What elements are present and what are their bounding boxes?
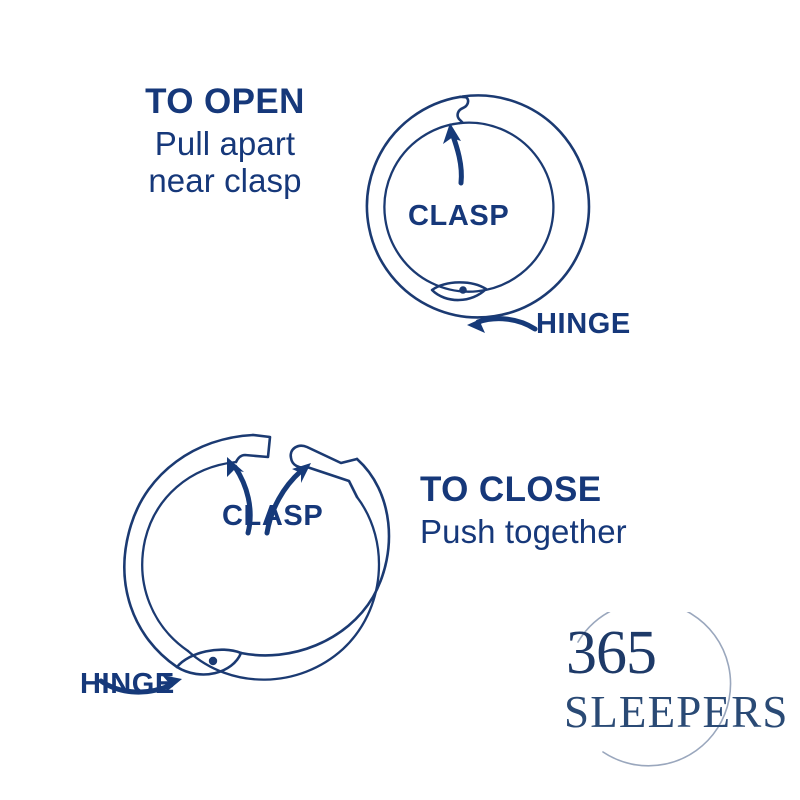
open-ring-left-clasp-tip: [236, 435, 270, 462]
to-close-instructions: TO CLOSE Push together: [420, 470, 750, 551]
hinge-label-open: HINGE: [80, 668, 175, 701]
to-close-line-1: Push together: [420, 514, 750, 551]
instruction-graphic: TO OPEN Pull apart near clasp CLASP: [0, 0, 800, 800]
hinge-pointer-arrow-closed: [478, 319, 535, 329]
closed-ring-clasp-step: [458, 97, 469, 123]
closed-ring-hinge-pivot-dot: [459, 286, 467, 294]
open-ring-left-inner-arc: [142, 462, 236, 651]
clasp-label-open: CLASP: [222, 500, 323, 533]
open-ring-right-outer-arc: [241, 459, 389, 655]
logo-365-mark: 365: [566, 622, 656, 684]
to-close-heading: TO CLOSE: [420, 470, 750, 509]
clasp-label-closed: CLASP: [408, 200, 509, 233]
hinge-label-closed: HINGE: [536, 308, 631, 341]
brand-logo: 365 SLEEPERS: [548, 612, 780, 784]
logo-sleepers-wordmark: SLEEPERS: [564, 690, 789, 735]
open-ring-hinge-pivot-dot: [209, 657, 217, 665]
